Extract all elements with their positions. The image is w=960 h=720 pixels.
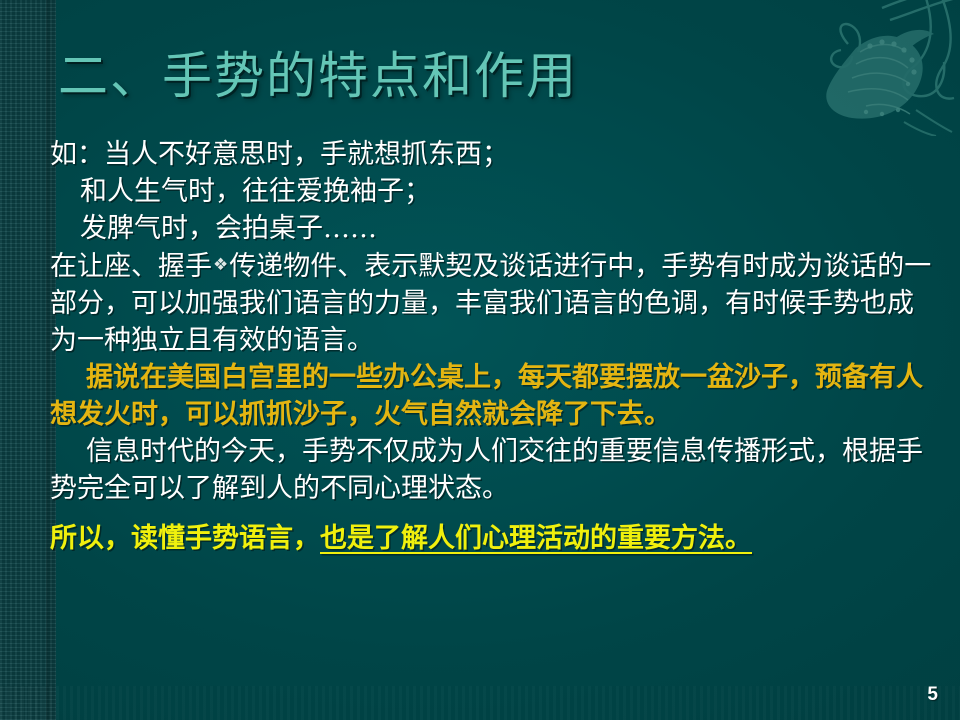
paragraph-handshake-prefix: 在让座、握手 — [50, 251, 212, 282]
conclusion-underlined: 也是了解人们心理活动的重要方法。 — [320, 523, 752, 554]
left-texture-band — [0, 0, 56, 720]
intro-line-1: 如：当人不好意思时，手就想抓东西； — [50, 136, 940, 173]
paragraph-information-age: 信息时代的今天，手势不仅成为人们交往的重要信息传播形式，根据手势完全可以了解到人… — [50, 433, 940, 507]
slide-title: 二、手势的特点和作用 — [58, 46, 578, 106]
phoenix-bird-ornament-icon — [786, 0, 960, 136]
conclusion-line: 所以，读懂手势语言，也是了解人们心理活动的重要方法。 — [50, 520, 940, 557]
paragraph-handshake: 在让座、握手❖传递物件、表示默契及谈话进行中，手势有时成为谈话的一部分，可以加强… — [50, 247, 940, 359]
slide-canvas: 二、手势的特点和作用 如：当人不好意思时，手就想抓东西； 和人生气时，往往爱挽袖… — [0, 0, 960, 720]
slide-body: 如：当人不好意思时，手就想抓东西； 和人生气时，往往爱挽袖子； 发脾气时，会拍桌… — [50, 136, 940, 557]
intro-line-3: 发脾气时，会拍桌子…… — [50, 210, 940, 247]
diamond-bullet-icon: ❖ — [212, 255, 229, 275]
paragraph-white-house: 据说在美国白宫里的一些办公桌上，每天都要摆放一盆沙子，预备有人想发火时，可以抓抓… — [50, 359, 940, 433]
conclusion-plain: 所以，读懂手势语言， — [50, 523, 320, 554]
spacer — [50, 507, 940, 520]
bottom-texture-strip — [0, 686, 960, 720]
page-number: 5 — [927, 684, 938, 706]
intro-line-2: 和人生气时，往往爱挽袖子； — [50, 173, 940, 210]
